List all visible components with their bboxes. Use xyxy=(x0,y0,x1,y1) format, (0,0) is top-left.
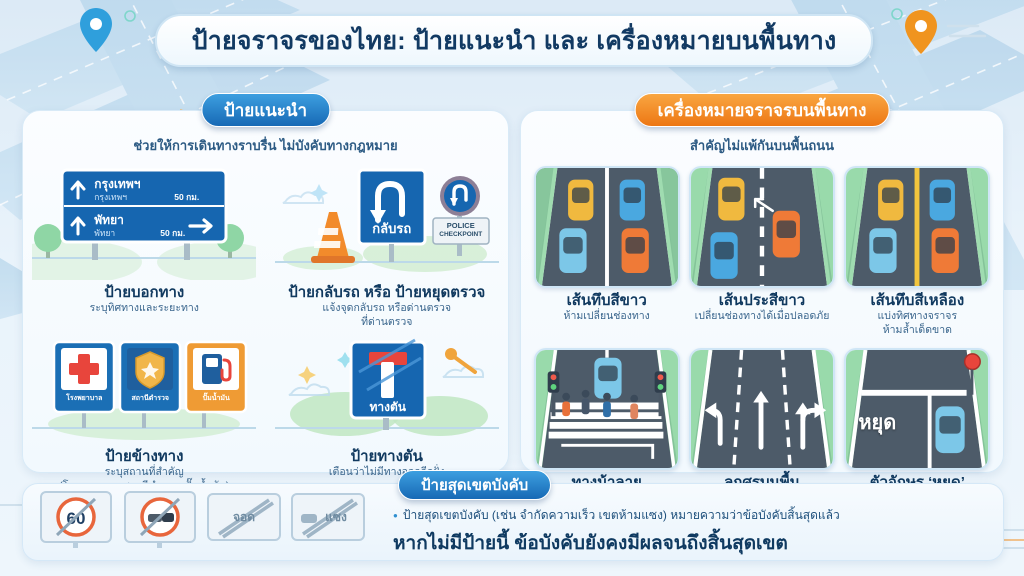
end-restriction-signs: 60 xyxy=(37,490,367,548)
lane-arrows-tile xyxy=(689,348,835,470)
pedestrian-2 xyxy=(581,389,589,413)
road-markings-section: เครื่องหมายจราจรบนพื้นทาง สำคัญไม่แพ้กัน… xyxy=(520,110,1004,473)
guide-item-0-desc: ระบุทิศทางและระยะทาง xyxy=(86,302,203,315)
car-lightblue xyxy=(870,228,897,273)
guide-item-1-caption: ป้ายกลับรถ หรือ ป้ายหยุดตรวจ xyxy=(288,284,485,301)
checkpoint-line-2: CHECKPOINT xyxy=(433,231,489,238)
end-sign-speed-limit: 60 xyxy=(37,490,115,548)
page-title: ป้ายจราจรของไทย: ป้ายแนะนำ และ เครื่องหม… xyxy=(192,21,837,61)
zebra-crossing-tile xyxy=(534,348,680,470)
car-orange xyxy=(932,228,959,273)
guide-item-3-caption: ป้ายทางตัน xyxy=(351,448,423,465)
end-of-restriction-banner: ป้ายสุดเขตบังคับ 60 xyxy=(22,483,1004,561)
guide-signs-badge: ป้ายแนะนำ xyxy=(201,93,330,127)
stop-text-tile: หยุด xyxy=(844,348,990,470)
road-stop-text: หยุด xyxy=(858,406,896,438)
marking-item-2-desc: แบ่งทิศทางจราจร xyxy=(874,310,962,323)
end-restriction-badge: ป้ายสุดเขตบังคับ xyxy=(398,470,551,500)
guide-item-2-caption: ป้ายข้างทาง xyxy=(105,448,183,465)
direction-row-1-dest-small: พัทยา xyxy=(94,226,115,240)
checkpoint-line-1: POLICE xyxy=(433,221,489,230)
end-sign-no-parking: จอด xyxy=(205,490,283,548)
car-yellow xyxy=(718,178,744,221)
pedestrian-4 xyxy=(630,394,638,418)
service-sign-0-label: โรงพยาบาล xyxy=(54,393,114,404)
car-blue-top xyxy=(619,180,644,221)
dashed-white-tile xyxy=(689,166,835,288)
banner-line-2: หากไม่มีป้ายนี้ ข้อบังคับยังคงมีผลจนถึงส… xyxy=(393,528,840,558)
guide-item-0-caption: ป้ายบอกทาง xyxy=(104,284,184,301)
direction-row-0-dest-small: กรุงเทพฯ xyxy=(94,190,127,204)
marking-item-dashed-white: เส้นประสีขาว เปลี่ยนช่องทางได้เมื่อปลอดภ… xyxy=(686,166,837,338)
end-sign-no-overtake-label: แซง xyxy=(307,508,365,527)
pedestrian-1 xyxy=(562,392,570,415)
road-markings-subtitle: สำคัญไม่แพ้กันบนพื้นถนน xyxy=(521,135,1003,156)
car-blue-top xyxy=(930,180,955,221)
solid-yellow-tile xyxy=(844,166,990,288)
guide-item-1-desc: แจ้งจุดกลับรถ หรือด่านตรวจ xyxy=(318,302,455,315)
marking-item-2-desc2: ห้ามล้ำเด็ดขาด xyxy=(879,324,956,337)
end-sign-no-overtake-text: แซง xyxy=(289,490,367,548)
service-signs-scene: โรงพยาบาล สถานีตำรวจ ปั๊มน้ำมัน xyxy=(32,336,256,444)
car-blue xyxy=(936,406,965,453)
guide-item-2-desc: ระบุสถานที่สำคัญ xyxy=(101,466,188,479)
car-lightblue xyxy=(559,228,586,273)
end-sign-no-overtaking xyxy=(121,490,199,548)
car-yellow xyxy=(878,180,903,221)
guide-item-service-signs: โรงพยาบาล สถานีตำรวจ ปั๊มน้ำมัน ป้ายข้าง… xyxy=(23,336,266,494)
car-orange xyxy=(621,228,648,273)
marking-item-0-desc: ห้ามเปลี่ยนช่องทาง xyxy=(560,310,654,323)
service-sign-1-label: สถานีตำรวจ xyxy=(120,393,180,404)
dead-end-sign-label: ทางตัน xyxy=(351,398,425,417)
pedestrian-3 xyxy=(603,392,611,416)
guide-signs-subtitle: ช่วยให้การเดินทางราบรื่น ไม่บังคับทางกฎห… xyxy=(23,135,508,156)
uturn-scene: กลับรถ POLICE CHECKPOINT xyxy=(275,162,499,280)
dead-end-scene: ทางตัน xyxy=(275,336,499,444)
banner-text-block: ป้ายสุดเขตบังคับ (เช่น จำกัดความเร็ว เขต… xyxy=(393,506,840,558)
marking-item-1-desc: เปลี่ยนช่องทางได้เมื่อปลอดภัย xyxy=(691,310,834,323)
car-blue xyxy=(594,357,621,398)
infographic-root: ป้ายจราจรของไทย: ป้ายแนะนำ และ เครื่องหม… xyxy=(0,0,1024,576)
direction-sign-scene: กรุงเทพฯ กรุงเทพฯ 50 กม. พัทยา พัทยา 50 … xyxy=(32,162,256,280)
page-title-container: ป้ายจราจรของไทย: ป้ายแนะนำ และ เครื่องหม… xyxy=(155,14,873,67)
police-badge-icon xyxy=(136,352,164,388)
guide-item-1-desc2: ที่ด่านตรวจ xyxy=(357,316,416,329)
direction-row-1-distance: 50 กม. xyxy=(160,226,185,240)
uturn-sign-label: กลับรถ xyxy=(367,218,417,239)
marking-item-0-caption: เส้นทึบสีขาว xyxy=(567,292,647,309)
marking-item-1-caption: เส้นประสีขาว xyxy=(719,292,805,309)
service-sign-2-label: ปั๊มน้ำมัน xyxy=(186,393,246,404)
direction-row-0-distance: 50 กม. xyxy=(174,190,199,204)
marking-item-2-caption: เส้นทึบสีเหลือง xyxy=(871,292,965,309)
guide-item-direction-sign: กรุงเทพฯ กรุงเทพฯ 50 กม. พัทยา พัทยา 50 … xyxy=(23,162,266,330)
car-orange xyxy=(773,211,800,258)
marking-item-solid-white: เส้นทึบสีขาว ห้ามเปลี่ยนช่องทาง xyxy=(531,166,682,338)
solid-white-tile xyxy=(534,166,680,288)
end-sign-no-parking-label: จอด xyxy=(205,508,283,527)
car-blue xyxy=(710,232,737,279)
banner-line-1: ป้ายสุดเขตบังคับ (เช่น จำกัดความเร็ว เขต… xyxy=(393,506,840,525)
road-markings-badge: เครื่องหมายจราจรบนพื้นทาง xyxy=(635,93,890,127)
guide-signs-section: ป้ายแนะนำ ช่วยให้การเดินทางราบรื่น ไม่บั… xyxy=(22,110,509,473)
car-yellow xyxy=(568,180,593,221)
guide-item-uturn-checkpoint: กลับรถ POLICE CHECKPOINT ป้ายกลับรถ หรือ… xyxy=(266,162,509,330)
marking-item-solid-yellow: เส้นทึบสีเหลือง แบ่งทิศทางจราจร ห้ามล้ำเ… xyxy=(842,166,993,338)
